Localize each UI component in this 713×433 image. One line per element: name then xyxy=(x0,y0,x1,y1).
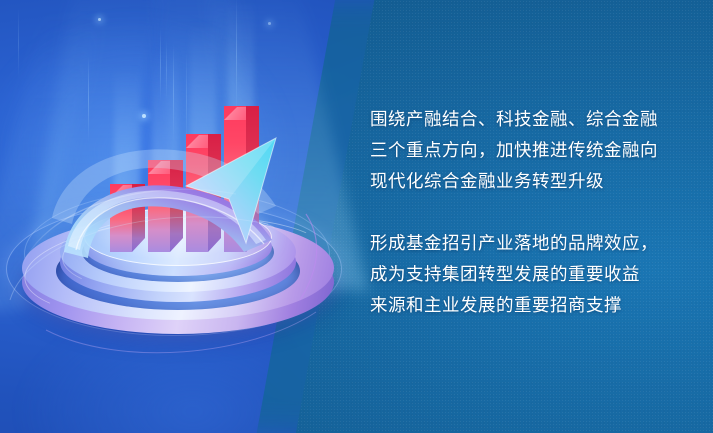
paragraph-2-line-3: 来源和主业发展的重要招商支撑 xyxy=(370,290,700,321)
podium-illustration xyxy=(10,196,340,346)
paragraph-2-line-1: 形成基金招引产业落地的品牌效应， xyxy=(370,228,700,259)
paragraph-2-line-2: 成为支持集团转型发展的重要收益 xyxy=(370,259,700,290)
bar-side-face xyxy=(208,134,221,252)
bar-front-face xyxy=(186,134,208,252)
bar-side-face xyxy=(132,184,145,252)
bar-4 xyxy=(224,92,260,266)
copy-block: 围绕产融结合、科技金融、综合金融 三个重点方向，加快推进传统金融向 现代化综合金… xyxy=(370,104,700,321)
bar-1 xyxy=(110,170,146,266)
bar-front-face xyxy=(224,106,246,252)
paragraph-1-line-1: 围绕产融结合、科技金融、综合金融 xyxy=(370,104,700,135)
bar-3 xyxy=(186,120,222,266)
bar-group xyxy=(10,196,340,346)
slide-canvas: 围绕产融结合、科技金融、综合金融 三个重点方向，加快推进传统金融向 现代化综合金… xyxy=(0,0,713,433)
bar-side-face xyxy=(246,106,259,252)
paragraph-spacer xyxy=(370,197,700,228)
light-streak xyxy=(18,8,19,78)
bar-2 xyxy=(148,146,184,266)
paragraph-1-line-2: 三个重点方向，加快推进传统金融向 xyxy=(370,135,700,166)
bar-side-face xyxy=(170,160,183,252)
paragraph-1-line-3: 现代化综合金融业务转型升级 xyxy=(370,166,700,197)
